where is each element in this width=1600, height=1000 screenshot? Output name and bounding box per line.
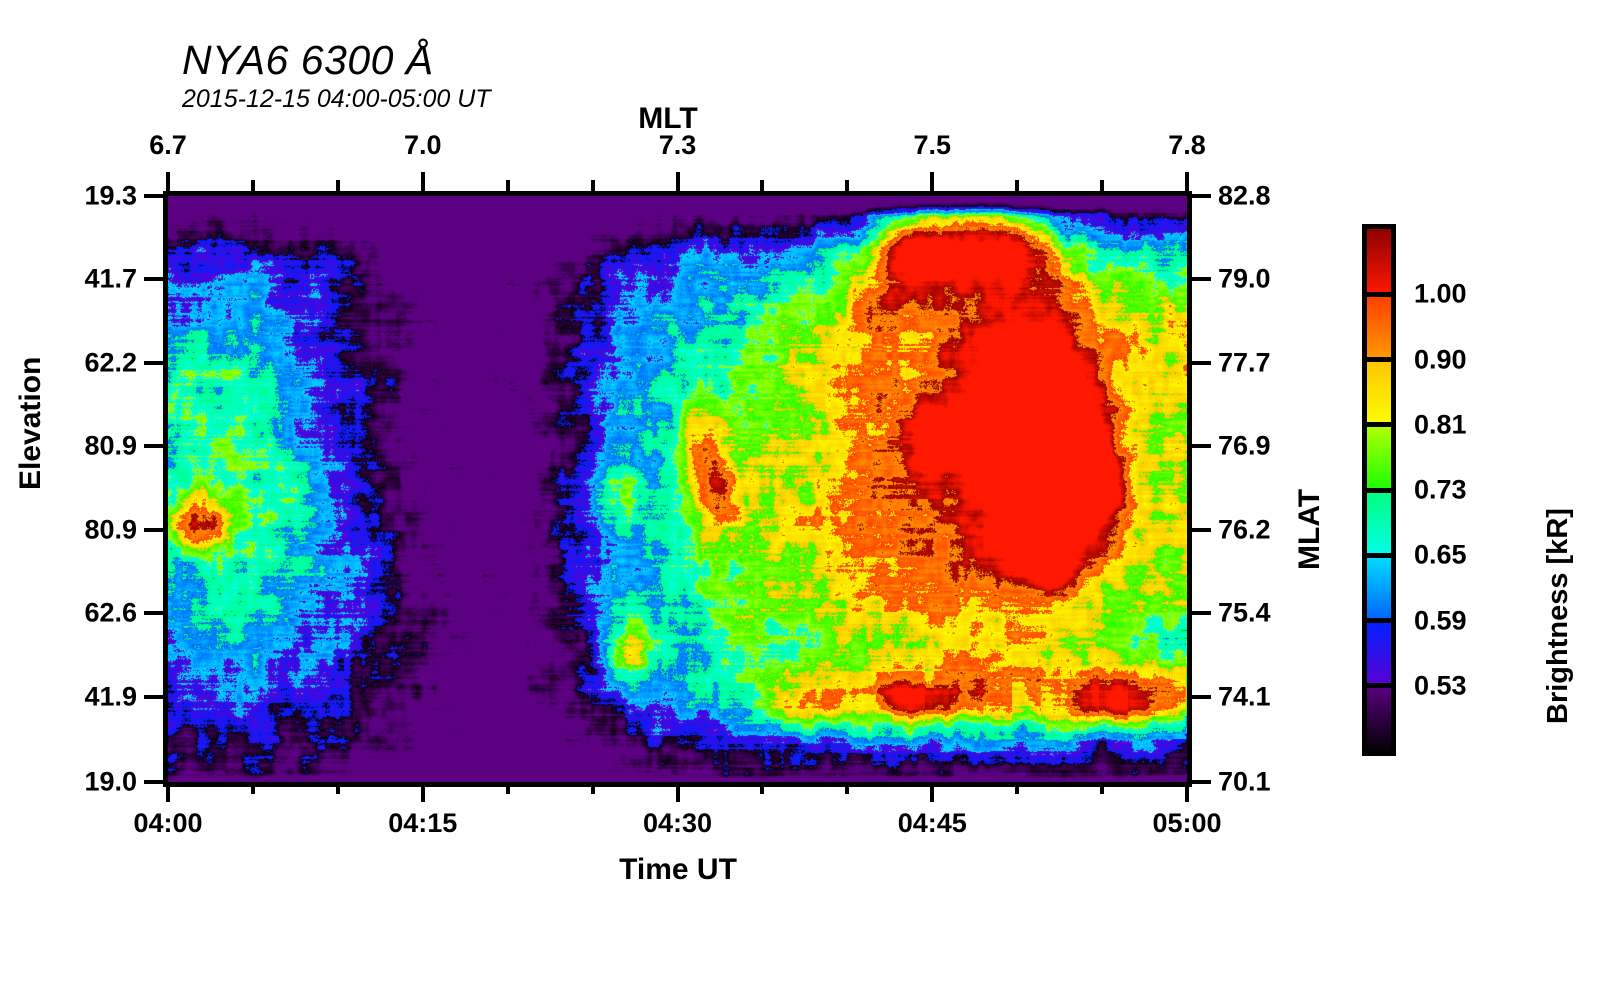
x-top-tick-label: 7.5 (913, 132, 951, 159)
y-tick-major (144, 528, 164, 532)
x-top-tick-minor (506, 180, 510, 192)
x-axis-title: Time UT (619, 855, 737, 885)
x-top-tick-minor (336, 180, 340, 192)
y-tick-major (144, 695, 164, 699)
x-tick-label: 05:00 (1152, 810, 1221, 837)
colorbar-tick-label: 0.90 (1414, 346, 1467, 373)
y-right-tick-major (1191, 277, 1211, 281)
plot-area: 04:0004:1504:3004:4505:006.77.07.37.57.8… (168, 196, 1187, 782)
x-top-tick-minor (760, 180, 764, 192)
y-tick-label: 80.9 (84, 433, 137, 460)
y-right-tick-major (1191, 194, 1211, 198)
y-right-tick-label: 70.1 (1218, 769, 1271, 796)
x-tick-minor (760, 782, 764, 794)
x-top-tick-label: 6.7 (149, 132, 187, 159)
x-top-tick-major (166, 172, 170, 192)
x-tick-label: 04:00 (133, 810, 202, 837)
x-top-tick-label: 7.8 (1168, 132, 1206, 159)
colorbar-title: Brightness [kR] (1542, 508, 1575, 724)
y-tick-label: 62.2 (84, 350, 137, 377)
y-right-tick-major (1191, 361, 1211, 365)
x-top-tick-minor (845, 180, 849, 192)
y-right-tick-major (1191, 695, 1211, 699)
x-tick-label: 04:45 (898, 810, 967, 837)
y-tick-label: 19.3 (84, 183, 137, 210)
title-block: NYA6 6300 Å 2015-12-15 04:00-05:00 UT (182, 40, 491, 112)
y-right-tick-major (1191, 444, 1211, 448)
y-axis-title: Elevation (16, 357, 46, 490)
y-tick-major (144, 194, 164, 198)
x-top-tick-label: 7.3 (659, 132, 697, 159)
y-right-tick-label: 76.9 (1218, 433, 1271, 460)
colorbar-tick-label: 0.73 (1414, 477, 1467, 504)
x-top-tick-label: 7.0 (404, 132, 442, 159)
x-tick-minor (336, 782, 340, 794)
y-tick-major (144, 277, 164, 281)
x-top-tick-major (676, 172, 680, 192)
x-tick-major (676, 782, 680, 802)
y-tick-major (144, 444, 164, 448)
x-tick-major (166, 782, 170, 802)
y-right-tick-major (1191, 611, 1211, 615)
x-top-tick-minor (251, 180, 255, 192)
y-tick-label: 41.7 (84, 266, 137, 293)
x-tick-minor (591, 782, 595, 794)
x-top-tick-major (930, 172, 934, 192)
colorbar-tick-label: 0.81 (1414, 411, 1467, 438)
x-tick-minor (1100, 782, 1104, 794)
x-tick-minor (845, 782, 849, 794)
x-top-tick-minor (1100, 180, 1104, 192)
y-right-tick-label: 75.4 (1218, 600, 1271, 627)
colorbar-tick-label: 1.00 (1414, 281, 1467, 308)
y-right-tick-major (1191, 528, 1211, 532)
y-tick-major (144, 611, 164, 615)
x-tick-minor (251, 782, 255, 794)
y-tick-label: 41.9 (84, 684, 137, 711)
x-tick-label: 04:30 (643, 810, 712, 837)
x-tick-major (1185, 782, 1189, 802)
y-right-tick-label: 79.0 (1218, 266, 1271, 293)
keogram-figure: NYA6 6300 Å 2015-12-15 04:00-05:00 UT Ti… (0, 0, 1600, 1000)
x-tick-minor (506, 782, 510, 794)
y-tick-major (144, 780, 164, 784)
colorbar-tick-label: 0.53 (1414, 672, 1467, 699)
y-tick-label: 80.9 (84, 517, 137, 544)
y-tick-major (144, 361, 164, 365)
x-tick-label: 04:15 (388, 810, 457, 837)
x-tick-minor (1015, 782, 1019, 794)
x-top-tick-minor (1015, 180, 1019, 192)
keogram-image (168, 196, 1187, 782)
y-tick-label: 62.6 (84, 600, 137, 627)
y-tick-label: 19.0 (84, 769, 137, 796)
x-tick-major (421, 782, 425, 802)
colorbar-tick-label: 0.59 (1414, 607, 1467, 634)
y-right-tick-label: 74.1 (1218, 684, 1271, 711)
y-right-tick-label: 82.8 (1218, 183, 1271, 210)
x-top-tick-major (421, 172, 425, 192)
x-top-tick-major (1185, 172, 1189, 192)
plot-subtitle: 2015-12-15 04:00-05:00 UT (182, 87, 491, 112)
x-tick-major (930, 782, 934, 802)
y-axis-right-title: MLAT (1295, 489, 1325, 570)
x-top-tick-minor (591, 180, 595, 192)
y-right-tick-label: 76.2 (1218, 517, 1271, 544)
y-right-tick-major (1191, 780, 1211, 784)
page-title: NYA6 6300 Å (182, 40, 491, 81)
y-right-tick-label: 77.7 (1218, 350, 1271, 377)
colorbar-border (1362, 224, 1396, 756)
colorbar-tick-label: 0.65 (1414, 542, 1467, 569)
